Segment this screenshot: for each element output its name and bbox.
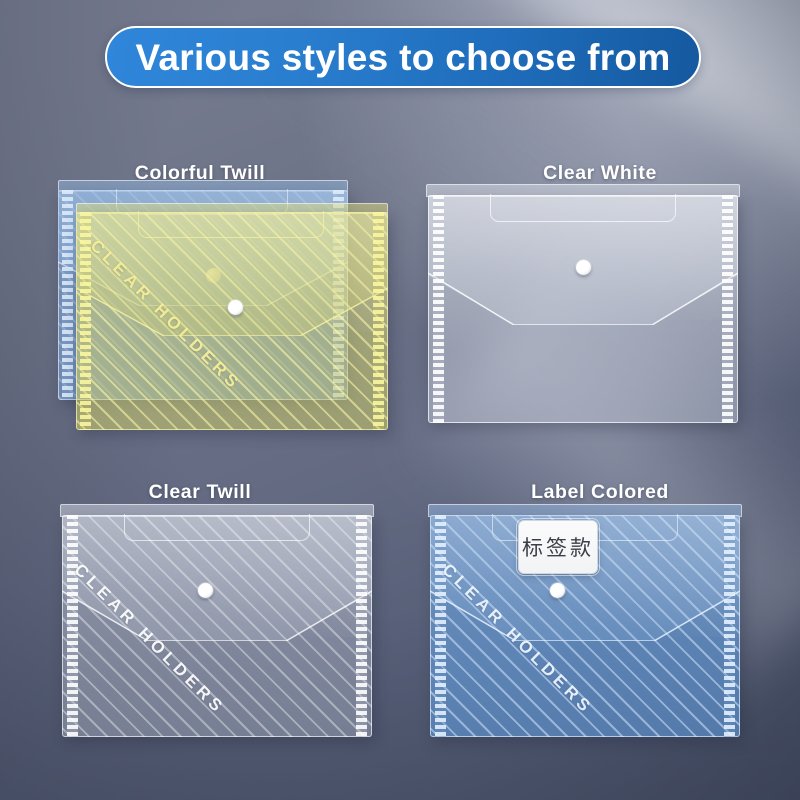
envelope-seam-right xyxy=(356,515,367,737)
envelope-seam-left xyxy=(62,190,73,400)
seam-beads xyxy=(724,515,735,737)
envelope-seam-right xyxy=(373,212,384,430)
seam-beads xyxy=(67,515,78,737)
section-label-clear-white: Clear White xyxy=(400,162,800,185)
envelope-seam-right xyxy=(722,195,733,423)
envelope-seam-right xyxy=(724,515,735,737)
product-feature-image: Various styles to choose from Colorful T… xyxy=(0,0,800,800)
envelope-seam-left xyxy=(67,515,78,737)
seam-beads xyxy=(373,212,384,430)
envelope-flap-notch xyxy=(138,211,324,238)
envelope-flap-notch xyxy=(490,194,676,222)
envelope-colorful-twill[interactable]: CLEAR HOLDERS xyxy=(58,190,388,430)
label-tag-card[interactable]: 标签款 xyxy=(518,520,598,574)
envelope-yellow-front: CLEAR HOLDERS xyxy=(76,212,388,430)
envelope-flap-notch xyxy=(124,514,310,541)
envelope-clear-white[interactable] xyxy=(428,195,738,423)
envelope-seam-left xyxy=(435,515,446,737)
seam-beads xyxy=(356,515,367,737)
snap-button[interactable] xyxy=(576,260,591,275)
seam-beads xyxy=(722,195,733,423)
seam-beads xyxy=(435,515,446,737)
headline-text: Various styles to choose from xyxy=(135,39,670,76)
seam-beads xyxy=(433,195,444,423)
snap-button[interactable] xyxy=(550,583,565,598)
section-label-label-colored: Label Colored xyxy=(400,481,800,504)
snap-button[interactable] xyxy=(228,300,243,315)
snap-button[interactable] xyxy=(198,583,213,598)
envelope-label-colored[interactable]: CLEAR HOLDERS 标签款 xyxy=(430,515,740,737)
headline-banner: Various styles to choose from xyxy=(105,26,701,88)
envelope-seam-left xyxy=(433,195,444,423)
envelope-clear-twill[interactable]: CLEAR HOLDERS xyxy=(62,515,372,737)
label-tag-border xyxy=(516,518,600,576)
section-label-clear-twill: Clear Twill xyxy=(0,481,400,504)
seam-beads xyxy=(62,190,73,400)
